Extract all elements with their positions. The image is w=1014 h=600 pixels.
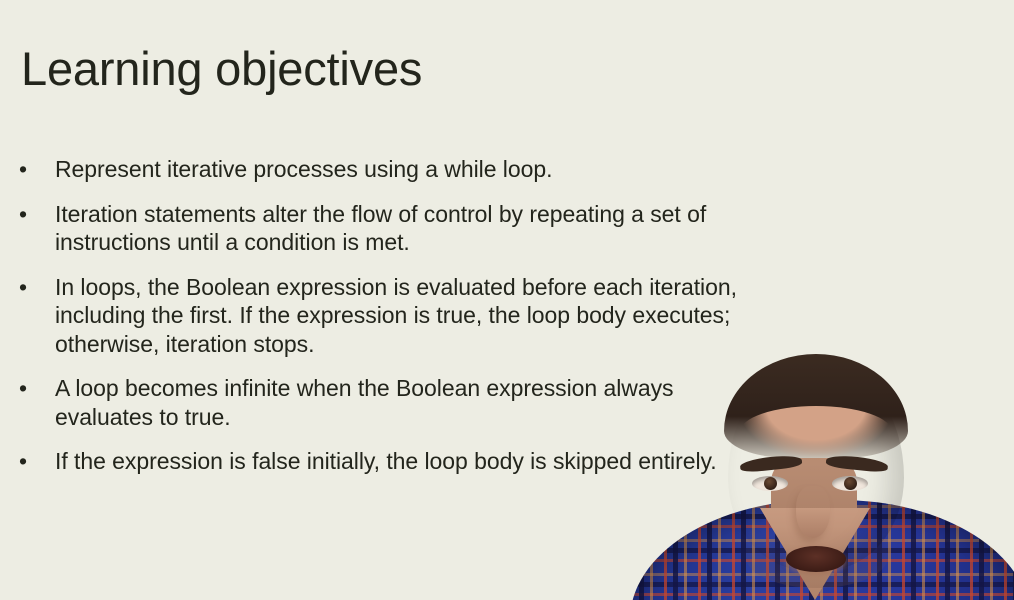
bullet-marker-icon: • — [19, 447, 27, 476]
bullet-marker-icon: • — [19, 200, 27, 229]
list-item-text: Iteration statements alter the flow of c… — [55, 200, 960, 257]
presenter-mouth — [786, 546, 846, 572]
presenter-eye-right — [832, 476, 868, 491]
presenter-eye-left — [752, 476, 788, 491]
presenter-nose — [796, 486, 830, 538]
list-item: • Iteration statements alter the flow of… — [0, 200, 960, 257]
presenter-video-overlay[interactable] — [600, 350, 1014, 600]
list-item: • Represent iterative processes using a … — [0, 155, 960, 184]
bullet-marker-icon: • — [19, 374, 27, 403]
bullet-marker-icon: • — [19, 155, 27, 184]
list-item-text: Represent iterative processes using a wh… — [55, 155, 960, 184]
presentation-slide: Learning objectives • Represent iterativ… — [0, 0, 1014, 600]
bullet-marker-icon: • — [19, 273, 27, 302]
list-item-text: In loops, the Boolean expression is eval… — [55, 273, 960, 359]
page-title: Learning objectives — [21, 39, 422, 99]
list-item: • In loops, the Boolean expression is ev… — [0, 273, 960, 359]
